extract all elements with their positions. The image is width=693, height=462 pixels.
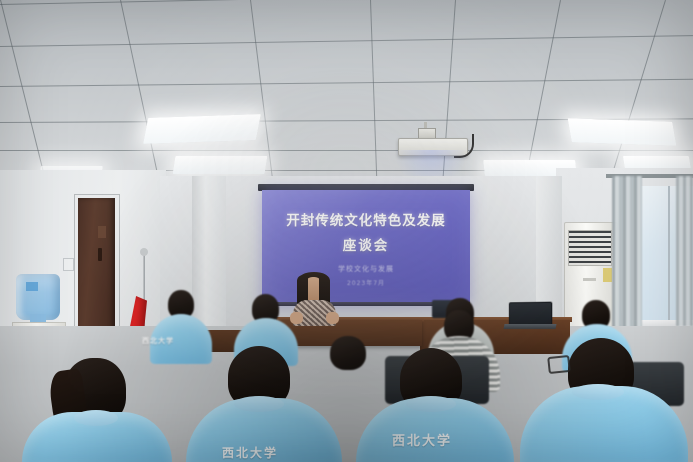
laptop-primary-base <box>503 324 556 329</box>
air-conditioner-display <box>583 278 596 281</box>
slide-title-line2: 座谈会 <box>262 234 470 254</box>
ceiling <box>0 0 693 186</box>
attendee-collar <box>234 396 284 412</box>
glasses-icon <box>547 355 571 374</box>
ceiling-light-panel <box>568 118 677 146</box>
slide-subtitle: 学校文化与发展 <box>262 264 470 274</box>
ceiling-light-panel <box>143 114 261 144</box>
attendee-collar <box>74 410 118 426</box>
water-bottle-label <box>26 282 38 291</box>
air-conditioner-panel[interactable] <box>603 268 612 282</box>
wall-pillar-left <box>192 176 226 326</box>
door-handle[interactable] <box>98 248 102 261</box>
window-mullion <box>668 186 670 320</box>
attendee-collar <box>572 384 624 400</box>
attendee-head <box>330 336 366 370</box>
door-plate <box>98 226 106 238</box>
conference-room-photo: 开封传统文化特色及发展 座谈会 学校文化与发展 2023年7月 西北大学 <box>0 0 693 462</box>
slide-title-line1: 开封传统文化特色及发展 <box>262 209 470 229</box>
shirt-logo: 西北大学 <box>392 430 452 449</box>
shirt-logo: 西北大学 <box>142 336 174 346</box>
shirt-logo: 西北大学 <box>222 444 278 461</box>
projection-screen-surface: 开封传统文化特色及发展 座谈会 学校文化与发展 2023年7月 <box>262 190 470 306</box>
flag-pole-finial <box>140 248 148 256</box>
presenter-arm-left <box>290 312 303 324</box>
air-conditioner-grille <box>568 230 612 266</box>
ceiling-light-panel <box>173 156 268 174</box>
light-switch[interactable] <box>63 258 74 271</box>
attendee-collar <box>406 396 456 412</box>
projection-screen: 开封传统文化特色及发展 座谈会 学校文化与发展 2023年7月 <box>262 190 470 306</box>
presenter-arm-right <box>326 312 339 324</box>
curtain-right[interactable] <box>676 176 693 326</box>
slide-date: 2023年7月 <box>262 278 470 287</box>
